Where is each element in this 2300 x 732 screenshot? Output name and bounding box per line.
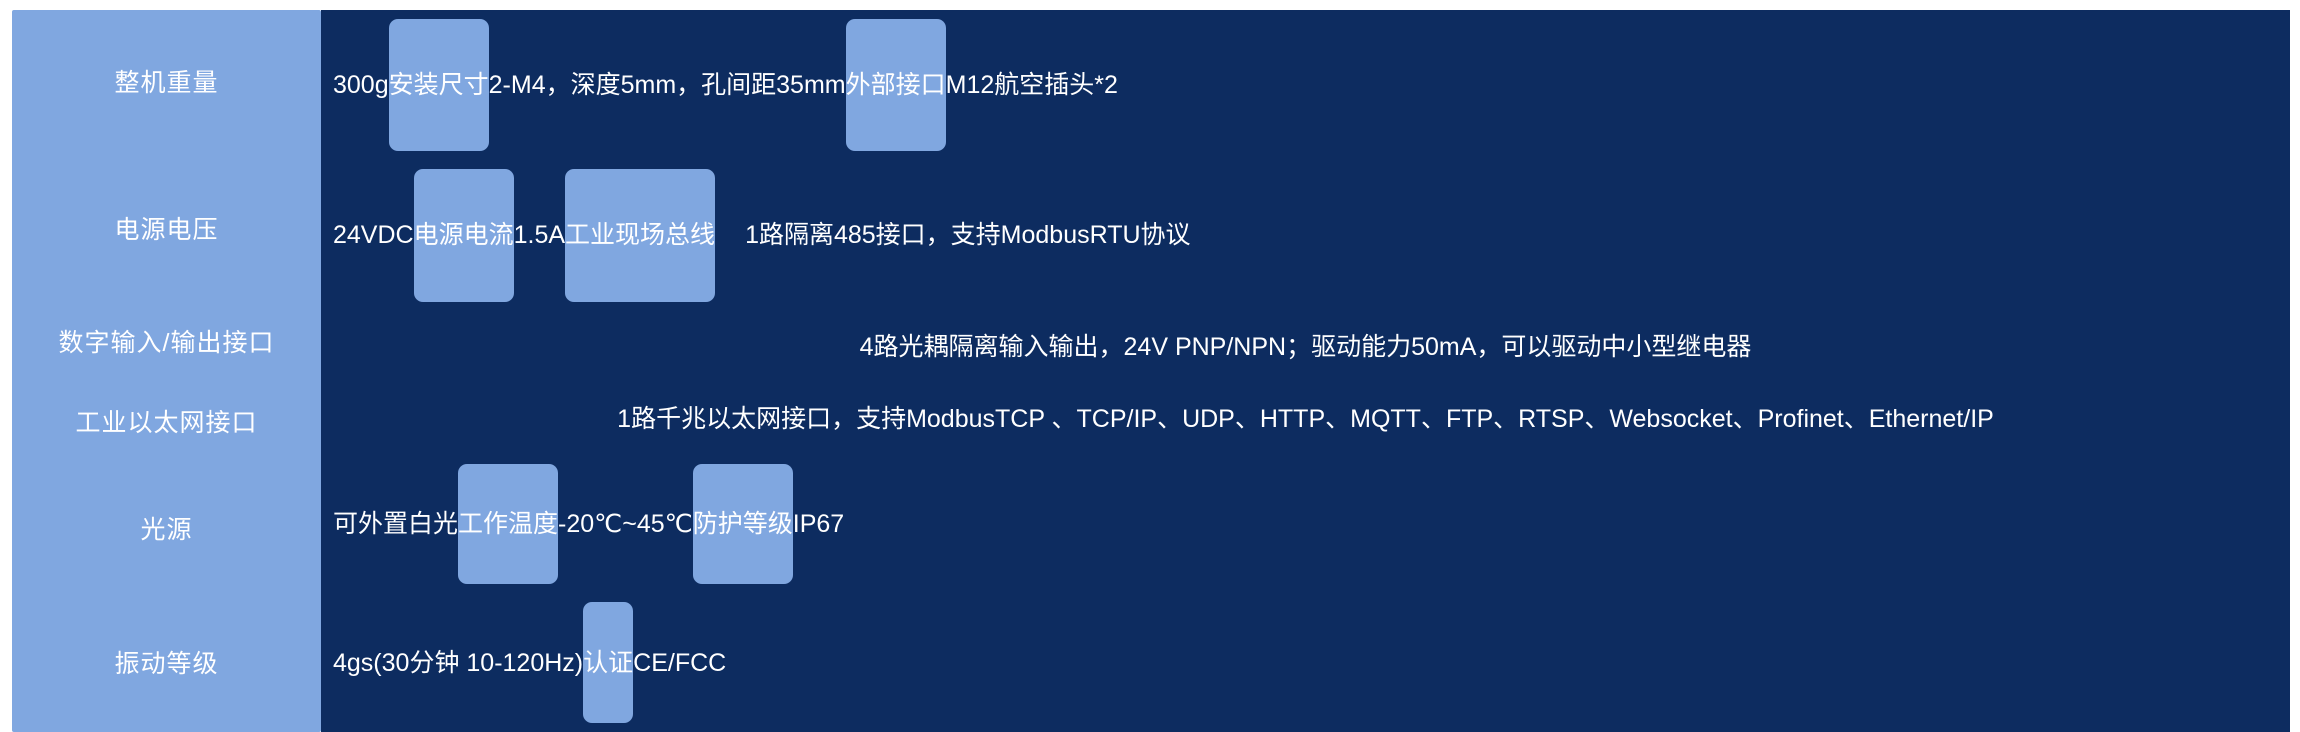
row-gutter	[321, 464, 333, 585]
table-row: 24VDC 电源电流 1.5A 工业现场总线 1路隔离485接口，支持Modbu…	[321, 160, 2290, 310]
row-gutter	[321, 19, 333, 151]
table-row: 1路千兆以太网接口，支持ModbusTCP 、TCP/IP、UDP、HTTP、M…	[321, 383, 2290, 455]
specification-table: 整机重量 电源电压 数字输入/输出接口 工业以太网接口 光源 振动等级 300g…	[12, 10, 2290, 732]
cell-power-voltage-value: 24VDC	[333, 169, 414, 301]
cell-power-current-chip[interactable]: 电源电流	[414, 169, 514, 301]
spec-label-column: 整机重量 电源电压 数字输入/输出接口 工业以太网接口 光源 振动等级	[12, 10, 321, 732]
row-label-digital-io: 数字输入/输出接口	[12, 304, 321, 384]
table-row: 4gs(30分钟 10-120Hz) 认证 CE/FCC	[321, 593, 2290, 732]
cell-certification-value: CE/FCC	[633, 602, 726, 723]
cell-certification-chip[interactable]: 认证	[583, 602, 633, 723]
row-gutter	[321, 602, 333, 723]
cell-operating-temperature-chip[interactable]: 工作温度	[458, 464, 558, 585]
row-label-light-source: 光源	[12, 464, 321, 598]
cell-protection-rating-value: IP67	[793, 464, 844, 585]
row-label-power-voltage: 电源电压	[12, 157, 321, 304]
cell-fieldbus-chip[interactable]: 工业现场总线	[565, 169, 715, 301]
row-label-industrial-ethernet: 工业以太网接口	[12, 384, 321, 464]
cell-fieldbus-value: 1路隔离485接口，支持ModbusRTU协议	[715, 169, 1220, 301]
cell-power-current-value: 1.5A	[514, 169, 565, 301]
spec-body-column: 300g 安装尺寸 2-M4，深度5mm，孔间距35mm 外部接口 M12航空插…	[321, 10, 2290, 732]
row-gutter	[321, 169, 333, 301]
row-label-weight: 整机重量	[12, 10, 321, 157]
cell-external-interface-chip[interactable]: 外部接口	[846, 19, 946, 151]
table-row: 4路光耦隔离输入输出，24V PNP/NPN；驱动能力50mA，可以驱动中小型继…	[321, 311, 2290, 383]
cell-vibration-grade-value: 4gs(30分钟 10-120Hz)	[333, 602, 583, 723]
cell-protection-rating-chip[interactable]: 防护等级	[693, 464, 793, 585]
cell-operating-temperature-value: -20℃~45℃	[558, 464, 693, 585]
cell-mounting-size-value: 2-M4，深度5mm，孔间距35mm	[489, 19, 846, 151]
cell-weight-value: 300g	[333, 19, 389, 151]
cell-external-interface-value: M12航空插头*2	[946, 19, 1118, 151]
cell-light-source-value: 可外置白光	[333, 464, 458, 585]
row-label-vibration-grade: 振动等级	[12, 598, 321, 732]
table-row: 300g 安装尺寸 2-M4，深度5mm，孔间距35mm 外部接口 M12航空插…	[321, 10, 2290, 160]
cell-digital-io-value: 4路光耦隔离输入输出，24V PNP/NPN；驱动能力50mA，可以驱动中小型继…	[321, 311, 2290, 383]
table-row: 可外置白光 工作温度 -20℃~45℃ 防护等级 IP67	[321, 455, 2290, 594]
cell-mounting-size-chip[interactable]: 安装尺寸	[389, 19, 489, 151]
cell-industrial-ethernet-value: 1路千兆以太网接口，支持ModbusTCP 、TCP/IP、UDP、HTTP、M…	[321, 383, 2290, 455]
